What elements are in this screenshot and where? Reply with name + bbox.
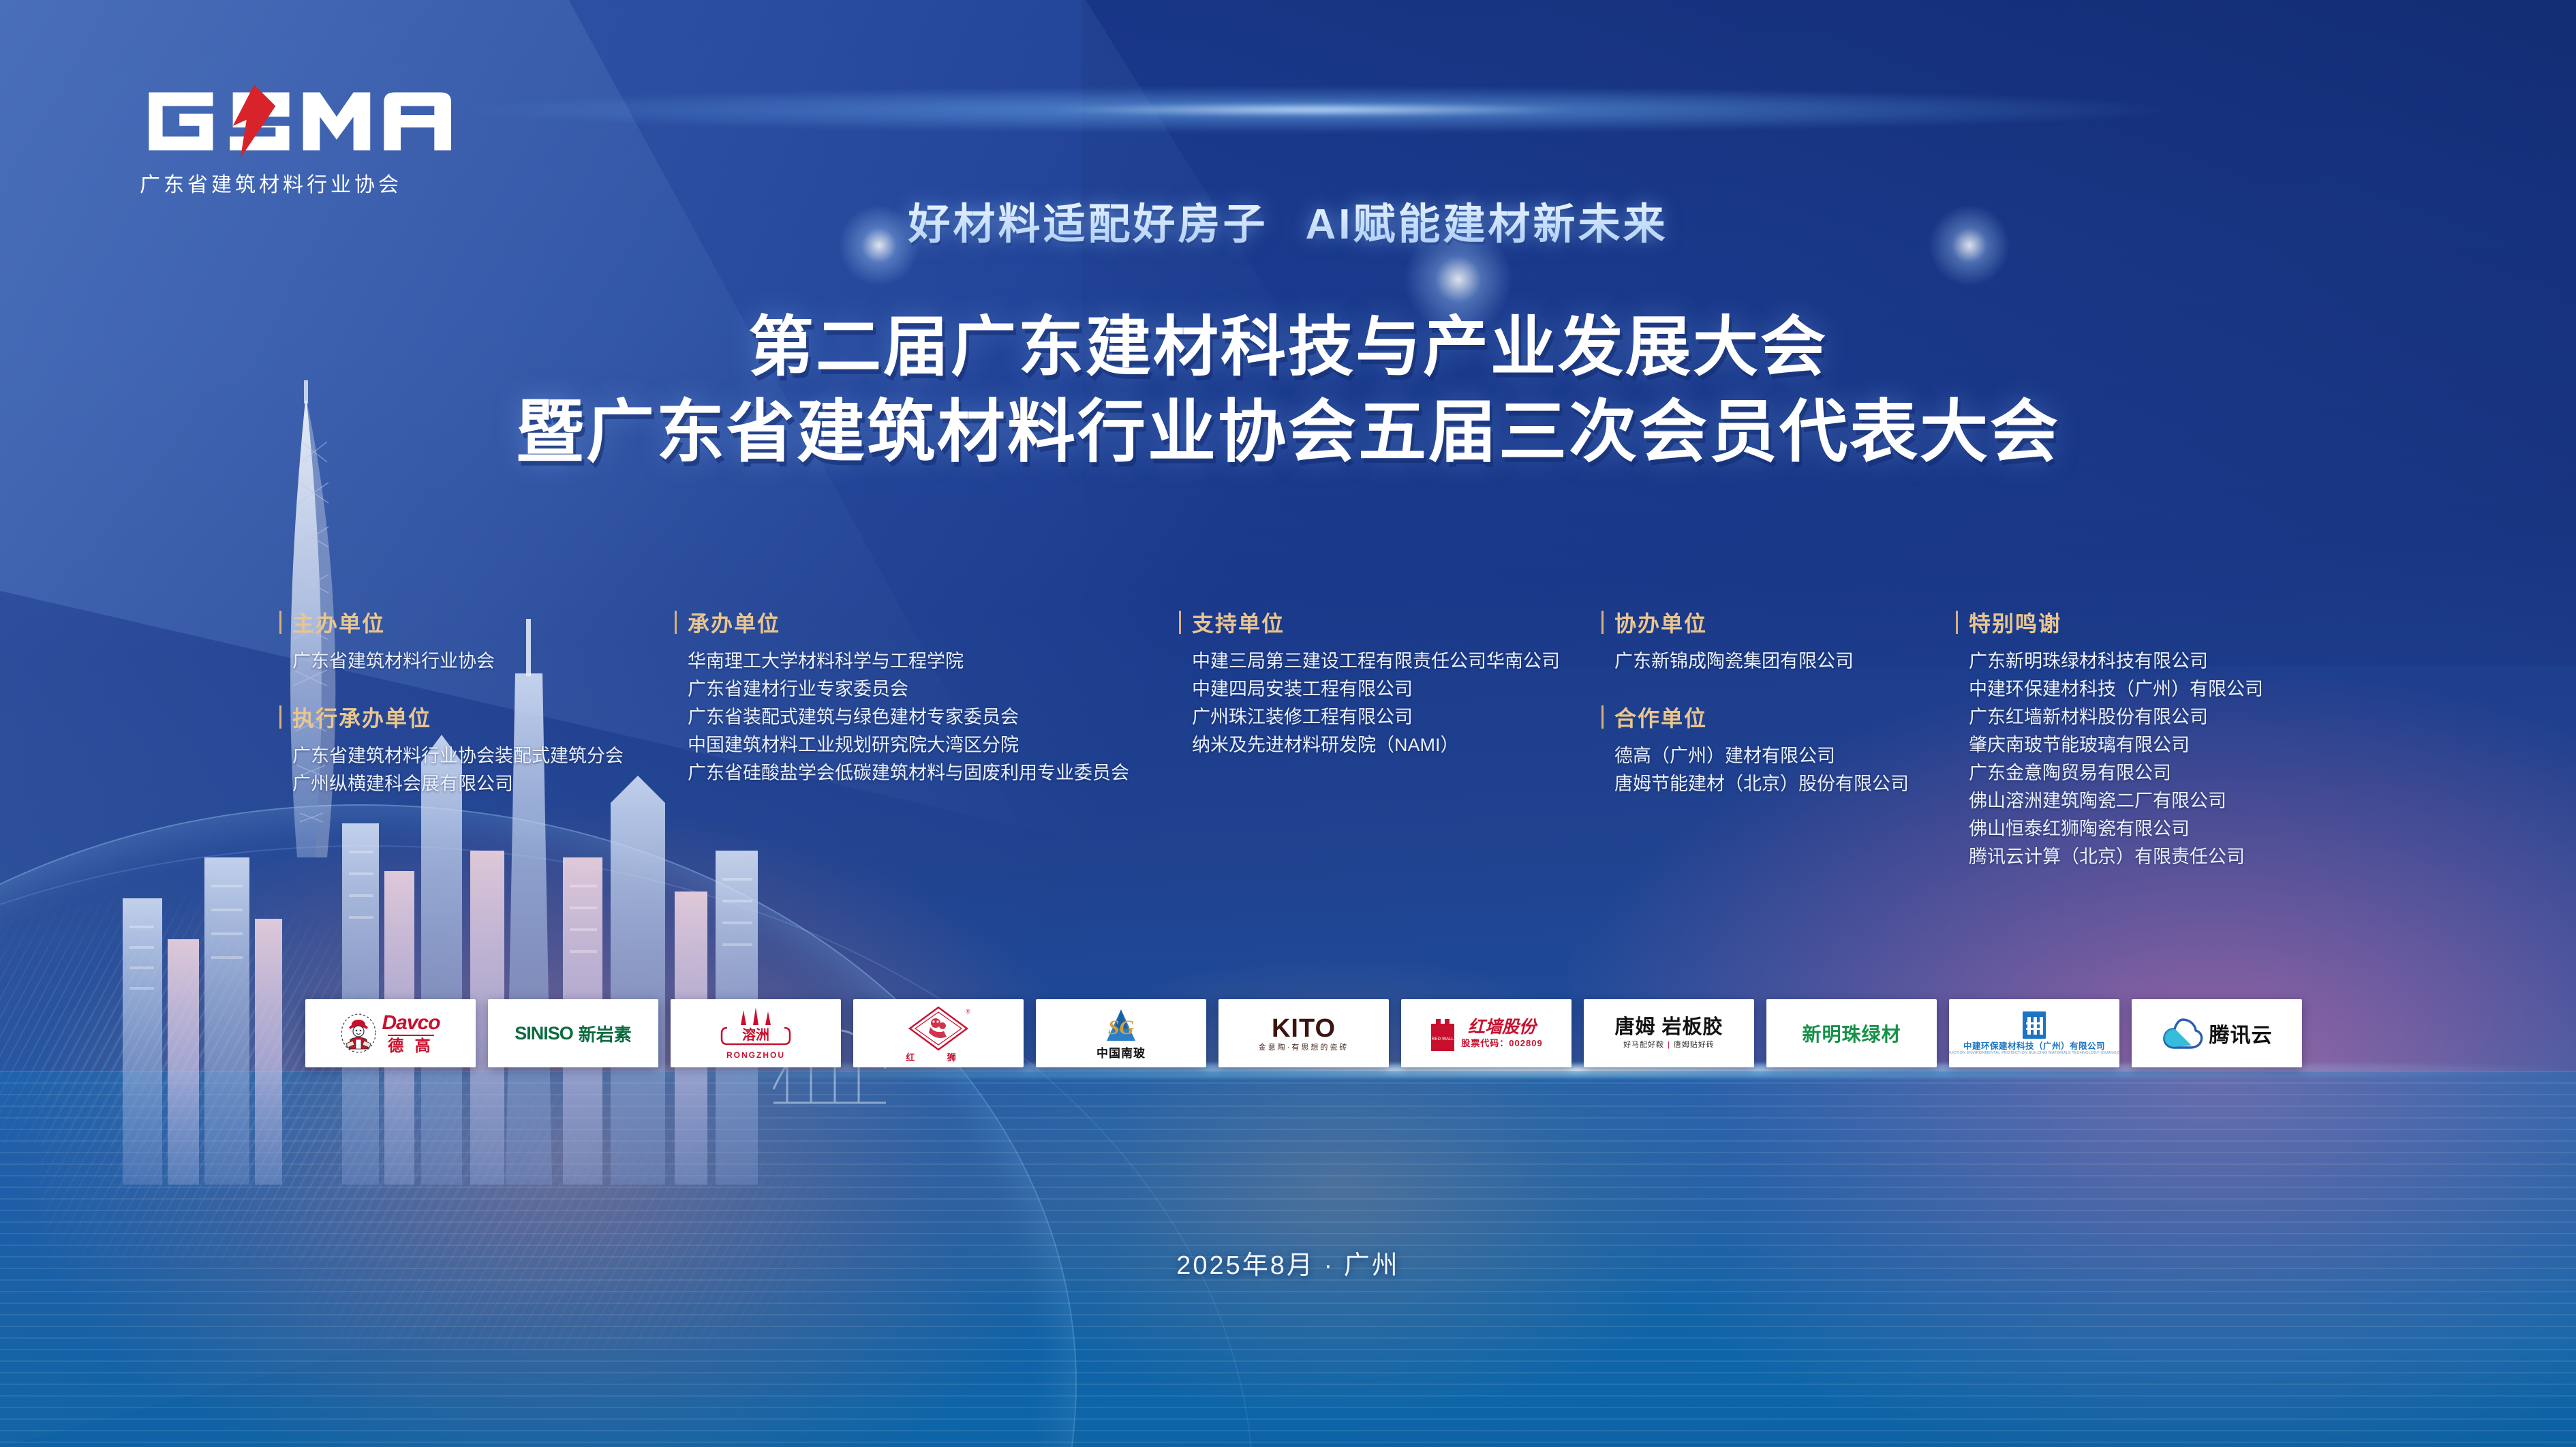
list-item: 广东省建筑材料行业协会 [292,648,675,675]
org-block-title: 承办单位 [688,607,780,638]
sponsor-logo-xinmingzhu: 新明珠绿材 [1766,999,1937,1067]
sponsor-name-cn: 腾讯云 [2209,1018,2273,1048]
sponsor-logo-davco: Davco 德 高 [305,999,476,1067]
zhongjian-building-icon [2023,1011,2046,1039]
csg-mountain-icon: SG [1097,1008,1145,1045]
list-item: 中建四局安装工程有限公司 [1192,675,1601,703]
sponsor-name-cn: 德 高 [388,1035,433,1054]
org-block-title: 特别鸣谢 [1969,607,2061,638]
hongqiang-wall-icon: RED WALL [1430,1014,1456,1052]
list-item: 华南理工大学材料科学与工程学院 [688,648,1179,675]
sponsor-logo-strip: Davco 德 高 SINISO 新岩素 溶洲 RONGZHOU [305,999,2302,1067]
org-block-host: 主办单位 广东省建筑材料行业协会 [279,607,675,675]
hatch-field-pink [293,1063,906,1350]
org-block-title: 合作单位 [1614,701,1707,733]
title-light-streak [463,87,2164,133]
sponsor-name-cn: 中建环保建材科技（广州）有限公司 [1963,1042,2105,1051]
list-item: 广东红墙新材料股份有限公司 [1969,703,2337,731]
org-column-3: 支持单位 中建三局第三建设工程有限责任公司华南公司 中建四局安装工程有限公司 广… [1179,607,1601,871]
tencent-cloud-icon [2162,1016,2204,1051]
list-item: 广东新锦成陶瓷集团有限公司 [1614,648,1956,675]
organizations-panel: 主办单位 广东省建筑材料行业协会 执行承办单位 广东省建筑材料行业协会装配式建筑… [279,607,2372,871]
section-tick-icon [279,705,281,729]
org-block-organizer: 承办单位 华南理工大学材料科学与工程学院 广东省建材行业专家委员会 广东省装配式… [675,607,1179,787]
sponsor-name-cn: 新岩素 [579,1021,632,1046]
event-date-location: 2025年8月 · 广州 [0,1244,2576,1281]
sponsor-name: KITO [1272,1016,1336,1041]
sponsor-name: Davco [382,1013,440,1033]
tagline-part-1: 好材料适配好房子 [908,189,1268,251]
title-line-2: 暨广东省建筑材料行业协会五届三次会员代表大会 [0,389,2576,475]
list-item: 德高（广州）建材有限公司 [1614,742,1956,770]
sponsor-logo-csg-nanbo: SG 中国南玻 [1036,999,1206,1067]
sponsor-logo-siniso: SINISO 新岩素 [488,999,658,1067]
list-item: 广州纵横建科会展有限公司 [292,770,675,798]
page-title: 第二届广东建材科技与产业发展大会 暨广东省建筑材料行业协会五届三次会员代表大会 [0,307,2576,475]
conference-backdrop: 广东省建筑材料行业协会 好材料适配好房子 AI赋能建材新未来 第二届广东建材科技… [0,0,2576,1447]
background-arc-glow [0,804,1077,1447]
tagline-a: 好马配好鞍 [1623,1041,1664,1049]
sponsor-tagline: 金意陶·有思想的瓷砖 [1259,1044,1349,1052]
org-block-title: 协办单位 [1614,607,1707,638]
list-item: 广东省硅酸盐学会低碳建筑材料与固废利用专业委员会 [688,759,1179,787]
sponsor-name-en: CHINA CONSTRUCTION ENVIRONMENTAL PROTECT… [1949,1052,2119,1056]
rongzhou-emblem-icon: 溶洲 [715,1007,797,1050]
list-item: 中国建筑材料工业规划研究院大湾区分院 [688,731,1179,759]
sponsor-name-cn: 唐姆 岩板胶 [1614,1018,1723,1037]
background-arc-2 [0,845,1254,1447]
list-item: 广州珠江装修工程有限公司 [1192,703,1601,731]
gbma-logomark [140,83,480,159]
tagline-b: 唐姆贴好砖 [1674,1041,1715,1049]
tagline-spacer [1271,189,1302,251]
hongshi-lion-emblem-icon: ® [906,1005,971,1052]
sponsor-name: SINISO [515,1023,573,1044]
org-block-partner: 合作单位 德高（广州）建材有限公司 唐姆节能建材（北京）股份有限公司 [1601,701,1956,798]
list-item: 中建三局第三建设工程有限责任公司华南公司 [1192,648,1601,675]
sponsor-name-cn: 中国南玻 [1097,1048,1146,1059]
tagline-part-2: AI赋能建材新未来 [1305,189,1668,251]
list-item: 腾讯云计算（北京）有限责任公司 [1969,843,2337,871]
sponsor-logo-tangmu: 唐姆 岩板胶 好马配好鞍|唐姆贴好砖 [1584,999,1754,1067]
sponsor-logo-hongshi: ® 红 狮 [853,999,1024,1067]
davco-worker-mascot-icon [341,1014,376,1053]
org-column-1: 主办单位 广东省建筑材料行业协会 执行承办单位 广东省建筑材料行业协会装配式建筑… [279,607,675,871]
sponsor-tagline: 好马配好鞍|唐姆贴好砖 [1623,1041,1715,1049]
sponsor-logo-hongqiang: RED WALL 红墙股份 股票代码：002809 [1401,999,1571,1067]
section-tick-icon [675,611,677,634]
org-block-title: 支持单位 [1192,607,1285,638]
sponsor-logo-kito: KITO 金意陶·有思想的瓷砖 [1218,999,1389,1067]
org-block-co-organizer: 协办单位 广东新锦成陶瓷集团有限公司 [1601,607,1956,675]
list-item: 佛山恒泰红狮陶瓷有限公司 [1969,815,2337,843]
section-tick-icon [1601,611,1604,634]
list-item: 中建环保建材科技（广州）有限公司 [1969,675,2337,703]
org-block-executive-organizer: 执行承办单位 广东省建筑材料行业协会装配式建筑分会 广州纵横建科会展有限公司 [279,701,675,798]
sponsor-logo-tencent-cloud: 腾讯云 [2132,999,2302,1067]
event-tagline: 好材料适配好房子 AI赋能建材新未来 [0,189,2576,251]
list-item: 广东金意陶贸易有限公司 [1969,759,2337,787]
org-column-4: 协办单位 广东新锦成陶瓷集团有限公司 合作单位 德高（广州）建材有限公司 唐姆节… [1601,607,1956,871]
title-line-1: 第二届广东建材科技与产业发展大会 [0,307,2576,389]
section-tick-icon [1179,611,1181,634]
sponsor-name-cn: 红 狮 [906,1053,971,1062]
list-item: 唐姆节能建材（北京）股份有限公司 [1614,770,1956,798]
svg-text:SG: SG [1108,1016,1135,1039]
date-location-text: 2025年8月 · 广州 [1176,1251,1399,1280]
tagline-divider: | [1668,1041,1670,1049]
sponsor-logo-rongzhou: 溶洲 RONGZHOU [671,999,841,1067]
org-column-2: 承办单位 华南理工大学材料科学与工程学院 广东省建材行业专家委员会 广东省装配式… [675,607,1179,871]
list-item: 广东新明珠绿材科技有限公司 [1969,648,2337,675]
list-item: 广东省建筑材料行业协会装配式建筑分会 [292,742,675,770]
org-block-title: 主办单位 [292,607,385,638]
list-item: 肇庆南玻节能玻璃有限公司 [1969,731,2337,759]
list-item: 广东省建材行业专家委员会 [688,675,1179,703]
stock-code: 股票代码：002809 [1461,1039,1542,1048]
svg-text:®: ® [966,1008,970,1015]
svg-text:RED WALL: RED WALL [1432,1037,1454,1041]
list-item: 佛山溶洲建筑陶瓷二厂有限公司 [1969,787,2337,815]
section-tick-icon [1601,705,1604,729]
section-tick-icon [279,611,281,634]
svg-text:溶洲: 溶洲 [742,1026,769,1043]
org-block-special-thanks: 特别鸣谢 广东新明珠绿材科技有限公司 中建环保建材科技（广州）有限公司 广东红墙… [1956,607,2337,871]
list-item: 广东省装配式建筑与绿色建材专家委员会 [688,703,1179,731]
list-item: 纳米及先进材料研发院（NAMI） [1192,731,1601,759]
org-block-supporter: 支持单位 中建三局第三建设工程有限责任公司华南公司 中建四局安装工程有限公司 广… [1179,607,1601,759]
sponsor-name-cn: 红墙股份 [1468,1019,1536,1036]
background-arc-1 [0,804,1077,1447]
org-column-5: 特别鸣谢 广东新明珠绿材科技有限公司 中建环保建材科技（广州）有限公司 广东红墙… [1956,607,2337,871]
sponsor-logo-zhongjian-huanbao: 中建环保建材科技（广州）有限公司 CHINA CONSTRUCTION ENVI… [1949,999,2119,1067]
sponsor-name-cn: 新明珠绿材 [1802,1020,1901,1047]
association-logo: 广东省建筑材料行业协会 [140,83,480,198]
section-tick-icon [1956,611,1958,634]
sponsor-name-en: RONGZHOU [726,1051,785,1059]
org-block-title: 执行承办单位 [292,701,431,733]
